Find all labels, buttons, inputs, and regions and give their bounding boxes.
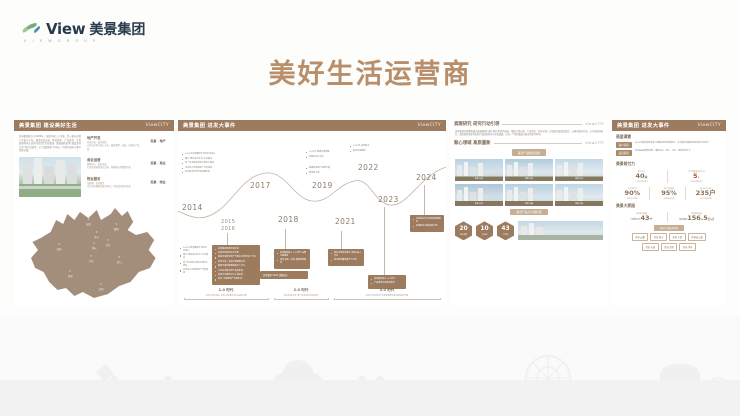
kpi: 在管项目数量 已服务社区43个 xyxy=(616,212,668,222)
kpi: 累计交付 40余 个住宅项目批次 xyxy=(616,170,668,183)
gallery-photo-caption: 美景·熙山 xyxy=(555,177,603,181)
kpi-row-mid: 交付及时率 90% 按期交付保障 客户满意度 95% 年度测评结果 累计交付户数… xyxy=(612,186,726,200)
project-chip[interactable]: 美景·天城 xyxy=(642,243,659,251)
kpi-sub: 2024年度数据 xyxy=(689,197,722,200)
delivery-title: 美景竣付力 xyxy=(612,158,726,169)
list-item: 全域美好生活运营商战略发布 xyxy=(413,218,441,224)
company-photo xyxy=(19,157,81,197)
gallery-photo: 美景·东望 xyxy=(455,159,503,181)
stat-badge: 20 余年深耕 xyxy=(455,221,472,240)
timeline-card: 全域美好生活运营商战略发布 多城联动 持续深耕中原 xyxy=(410,215,444,232)
list-item: 美景龙堂项目正式开盘 xyxy=(215,252,257,255)
kpi-unit: 余 xyxy=(645,175,648,179)
panel-research: 紧跟研究 研究行动引领 ViewCITY 美景集团持续聚焦城市发展脉络与客户居住… xyxy=(450,120,608,306)
province-map: ▾安阳▾濮阳▾新乡▾开封▾洛阳▾郑州▾许昌▾周口▾南阳▾信阳 xyxy=(24,202,164,302)
research-paragraph: 美景集团持续聚焦城市发展脉络与客户居住需求的演进，围绕土地价值、产品营造、社区运… xyxy=(450,127,608,136)
map-city-label: 南阳 xyxy=(68,274,73,278)
business-item: 商业运营 购物中心 · 街区商业 打造区域级商业综合体，构建城市消费新场景 美景… xyxy=(87,157,169,170)
list-item: 2022年 美景商业 xyxy=(350,145,384,148)
kpi: 交付及时率 90% 按期交付保障 xyxy=(616,187,650,200)
map-city-label: 许昌 xyxy=(89,259,94,263)
stat-label: 余年深耕 xyxy=(460,233,468,236)
gallery-photo-caption: 美景·云麓 xyxy=(505,201,553,205)
list-item: 多城联动 持续深耕中原 xyxy=(413,225,441,228)
business-logo: 美景 · 商业 xyxy=(147,157,169,170)
kpi-prefix: 已服务社区 xyxy=(630,219,640,221)
logo-subtitle: V I E W G R O U P xyxy=(24,39,98,43)
panel1-brand: ViewCITY xyxy=(146,123,169,128)
timeline-card: 美景集团进入 2.0 时代 品牌全面焕新 美景·熙山、美景·熙园双盘联动 xyxy=(274,249,310,269)
map-pin-icon: ▾ xyxy=(96,230,98,234)
timeline-year: 2022 xyxy=(358,163,379,172)
kpi-unit: 个 xyxy=(650,217,653,221)
list-item: 美景集团战略升级启动 xyxy=(215,248,257,251)
era-block: 1.0 时代 住宅开发为核心 夯实主业根基 树立品质口碑 xyxy=(184,288,268,297)
list-item: 2019年 集团年度销售 xyxy=(306,151,340,154)
research-section-header: 紧跟研究 研究行动引领 ViewCITY xyxy=(450,120,608,127)
timeline-year: 2019 xyxy=(312,181,333,190)
list-item: 商业运营板块独立 美景MALL开业 xyxy=(331,252,361,258)
list-item: 荣膺河南地产品牌价值 xyxy=(306,167,340,170)
map-pin-icon: ▾ xyxy=(93,241,95,245)
kpi-value: 235户 xyxy=(689,190,722,197)
kpi-unit: 万㎡ xyxy=(708,217,714,221)
project-chip[interactable]: 美景城·云著 xyxy=(688,233,707,241)
timeline-card: 美景集团战略升级启动 美景龙堂项目正式开盘 荣获河南省房地产开发企业综合实力十强… xyxy=(212,245,260,285)
gallery-top-pill: 美景产品精选案例 xyxy=(512,149,546,156)
era-block: 3.0 时代 美好生活运营商 全场景服务体系持续深化升级 xyxy=(334,288,440,297)
timeline-note: 荣膺河南地产品牌价值 榜单前十强 xyxy=(306,167,340,176)
stats-row: 20 余年深耕 10 大城市 43 个项目 美景集团项目实景 xyxy=(450,218,608,240)
gallery-photo: 美景·天城 xyxy=(455,184,503,206)
era-title: 1.0 时代 xyxy=(184,288,268,293)
business-logo: 美景 · 物业 xyxy=(147,176,169,189)
section-title: 紧跟研究 研究行动引领 xyxy=(454,121,499,127)
era-sub: 住宅开发为核心 夯实主业根基 树立品质口碑 xyxy=(184,294,268,297)
business-title: 地产开发 xyxy=(87,135,141,140)
infographic-board: 美景集团 建设美好生活 ViewCITY 美景集团创立于2002年，深耕河南二十… xyxy=(8,113,732,313)
tag-row: 客户满意 2023年度美景物业客户满意度测评结果显示，业主整体满意度持续位居行业… xyxy=(612,142,726,150)
map-city-label: 开封 xyxy=(106,243,111,247)
section-title: 聚心领域 高质量新 xyxy=(454,140,491,146)
kpi: 累计交付户数 235户 2024年度数据 xyxy=(689,187,722,200)
kpi: 交付满意度领先行业 5+ 年连续保持高位 xyxy=(671,170,722,183)
list-item: 板块全面提速 xyxy=(350,150,384,153)
era-title: 2.0 时代 xyxy=(274,288,328,293)
timeline-year: 2021 xyxy=(335,217,356,226)
project-chip[interactable]: 美景·云麓 xyxy=(632,233,649,241)
panel4-title: 美景集团 进发大事件 xyxy=(617,122,670,129)
map-pin-icon: ▾ xyxy=(100,282,102,286)
timeline-card: 美景集团迈入 3.0 时代 产品体系全面升级发布 xyxy=(368,275,406,289)
business-title: 商业运营 xyxy=(87,157,141,162)
list-item: 首个住宅项目美景天城开工建设 xyxy=(180,262,208,268)
panel-delivery: 美景集团 进发大事件 ViewCITY 高层满意 客户满意 2023年度美景物业… xyxy=(612,120,726,306)
list-item: 正式进入河南房地产开发领域 xyxy=(182,167,234,170)
stat-badge: 43 个项目 xyxy=(497,221,514,240)
map-pin-icon: ▾ xyxy=(118,255,120,259)
era-block: 2.0 时代 多元业务并举 地产商业物业协同发展 xyxy=(274,288,328,297)
list-item: 美景生活服务平台上线运营 xyxy=(215,274,257,277)
timeline-year: 2017 xyxy=(250,181,271,190)
timeline-bottom-card: 美景集团 2024 战略发布 xyxy=(260,271,308,279)
kpi: 在管面积规模 管理面积156.5万㎡ xyxy=(671,212,722,222)
list-item: 美景集团进入 2.0 时代 品牌全面焕新 xyxy=(277,252,307,258)
kpi-value: 43 xyxy=(640,214,649,222)
focus-section-header: 聚心领域 高质量新 ViewCITY xyxy=(450,140,608,146)
list-item: 美景集团迈入 3.0 时代 xyxy=(371,278,403,281)
timeline-side-list: 2002年美景集团于郑州正式成立 确立“建设美好生活”企业使命 首个住宅项目美景… xyxy=(180,247,208,277)
map-province-shape xyxy=(24,202,164,302)
panel2-header: 美景集团 进发大事件 ViewCITY xyxy=(178,120,446,131)
business-title: 物业服务 xyxy=(87,176,141,181)
business-desc: 全生命周期物业服务体系，持续提升居住体验 xyxy=(87,185,141,188)
gallery-photo: 美景·熙山 xyxy=(555,159,603,181)
stat-label: 大城市 xyxy=(482,233,488,236)
map-city-label: 郑州 xyxy=(92,246,97,250)
business-desc: 打造区域级商业综合体，构建城市消费新场景 xyxy=(87,166,141,169)
gallery-photo-caption: 美景·东望 xyxy=(455,177,503,181)
panel2-brand: ViewCITY xyxy=(418,123,441,128)
map-pin-icon: ▾ xyxy=(88,217,90,221)
panel1-title: 美景集团 建设美好生活 xyxy=(19,122,77,129)
gallery-photo: 美景·云麓 xyxy=(505,184,553,206)
kpi-sub: 个住宅项目批次 xyxy=(616,180,667,183)
kpi-value: 156.5 xyxy=(687,214,708,222)
footer-bar xyxy=(0,380,740,416)
logo-text-cn: 美景集团 xyxy=(89,23,145,37)
era-sub: 美好生活运营商 全场景服务体系持续深化升级 xyxy=(334,294,440,297)
timeline-note: 2019年 集团年度销售 突破百亿元大关 xyxy=(306,151,340,160)
gallery-photo-caption: 美景·学府 xyxy=(555,201,603,205)
timeline-year: 2014 xyxy=(182,203,203,212)
era-title: 3.0 时代 xyxy=(334,288,440,293)
kpi-row-top: 累计交付 40余 个住宅项目批次 交付满意度领先行业 5+ 年连续保持高位 xyxy=(612,169,726,183)
list-item: 2002年美景集团于郑州正式成立 xyxy=(182,153,234,156)
stat-number: 20 xyxy=(459,226,467,232)
stat-badge: 10 大城市 xyxy=(476,221,493,240)
business-logo: 美景 · 地产 xyxy=(147,135,169,148)
timeline-year: 2024 xyxy=(416,173,437,182)
map-pin-icon: ▾ xyxy=(69,269,71,273)
stat-label: 个项目 xyxy=(503,233,509,236)
kpi-value: 95% xyxy=(653,190,686,197)
kpi-row-bottom: 在管项目数量 已服务社区43个 在管面积规模 管理面积156.5万㎡ xyxy=(612,211,726,222)
list-item: 正式进入河南房地产开发领域 xyxy=(180,269,208,275)
tag-text: 全流程品质管控体系，覆盖设计、施工、交付、服务四大环节 xyxy=(635,150,722,153)
map-city-label: 新乡 xyxy=(94,235,99,239)
company-paragraph: 美景集团创立于2002年，深耕河南二十余载，是一家以房地产开发为主业，涵盖商业运… xyxy=(19,135,81,153)
tag-badge: 品质保障 xyxy=(616,150,632,156)
stat-photo: 美景集团项目实景 xyxy=(518,221,603,240)
panel4-header: 美景集团 进发大事件 ViewCITY xyxy=(612,120,726,131)
list-item: 美景·熙山、美景·熙园双盘联动 xyxy=(277,259,307,265)
gallery-photo: 美景·龙堂 xyxy=(505,159,553,181)
timeline-card: 商业运营板块独立 美景MALL开业 物业服务覆盖超千万平米 xyxy=(328,249,364,266)
timeline-year: 2023 xyxy=(378,195,399,204)
map-city-label: 周口 xyxy=(117,260,122,264)
slide-canvas: View 美景集团 V I E W G R O U P 美好生活运营商 美景集团… xyxy=(0,0,740,416)
map-pin-icon: ▾ xyxy=(116,222,118,226)
project-chips-row2: 美景·天城美景·龙堂美景·学府 xyxy=(612,241,726,251)
timeline-year: 2018 xyxy=(278,215,299,224)
business-item: 地产开发 住宅开发 · 城市更新 以住宅开发为核心主业，覆盖刚需、改善、高端全产… xyxy=(87,135,169,151)
kpi-value: 90% xyxy=(616,190,649,197)
map-city-label: 安阳 xyxy=(86,222,91,226)
timeline-note: 2022年 美景商业 板块全面提速 xyxy=(350,145,384,154)
community-title: 美景大家园 xyxy=(612,200,726,211)
tag-badge: 客户满意 xyxy=(616,142,632,148)
project-chip[interactable]: 美景·熙山 xyxy=(650,233,667,241)
list-item: 产品体系全面升级发布 xyxy=(371,282,403,285)
leaf-icon xyxy=(22,23,42,37)
kpi-sub: 年度测评结果 xyxy=(653,197,686,200)
project-gallery: 美景·东望美景·龙堂美景·熙山美景·天城美景·云麓美景·学府 xyxy=(450,159,608,206)
section-brand: ViewCITY xyxy=(585,122,604,126)
bottom-card-label: 美景集团 2024 战略发布 xyxy=(263,273,305,277)
list-item: 突破百亿元大关 xyxy=(306,156,340,159)
panel4-brand: ViewCITY xyxy=(698,123,721,128)
panel-company-intro: 美景集团 建设美好生活 ViewCITY 美景集团创立于2002年，深耕河南二十… xyxy=(14,120,174,306)
gallery-photo: 美景·学府 xyxy=(555,184,603,206)
list-item: 集团年度销售额突破五十亿元 xyxy=(215,265,257,268)
list-item: 启动城市综合开发战略布局 xyxy=(182,171,234,174)
list-item: 确立“建设美好生活”企业使命 xyxy=(180,254,208,260)
business-item: 物业服务 全周期 · 美好服务 全生命周期物业服务体系，持续提升居住体验 美景 … xyxy=(87,176,169,189)
business-desc: 以住宅开发为核心主业，覆盖刚需、改善、高端全产品线 xyxy=(87,144,141,151)
tag-row: 品质保障 全流程品质管控体系，覆盖设计、施工、交付、服务四大环节 xyxy=(612,150,726,158)
kpi: 客户满意度 95% 年度测评结果 xyxy=(653,187,687,200)
project-chips-row1: 美景·云麓美景·熙山美景·东望美景城·云著 xyxy=(612,231,726,241)
list-item: 榜单前十强 xyxy=(306,172,340,175)
map-pin-icon: ▾ xyxy=(90,254,92,258)
footer-illustration xyxy=(0,316,740,416)
kpi-sub: 年连续保持高位 xyxy=(671,180,722,183)
panel-timeline: 美景集团 进发大事件 ViewCITY 2014 2015 2016 2017 … xyxy=(178,120,446,306)
gallery-photo-caption: 美景·天城 xyxy=(455,201,503,205)
map-city-label: 信阳 xyxy=(99,287,104,291)
map-city-label: 洛阳 xyxy=(57,247,62,251)
list-item: 确立“建设美好生活”企业使命 xyxy=(182,158,234,161)
map-pin-icon: ▾ xyxy=(58,242,60,246)
list-item: 物业服务覆盖超千万平米 xyxy=(331,259,361,262)
project-chip[interactable]: 美景·学府 xyxy=(679,243,696,251)
kpi-value: 40 xyxy=(635,172,644,180)
map-pin-icon: ▾ xyxy=(107,238,109,242)
business-lines: 地产开发 住宅开发 · 城市更新 以住宅开发为核心主业，覆盖刚需、改善、高端全产… xyxy=(87,135,169,197)
list-item: 正式启动商业地产板块布局 xyxy=(215,270,257,273)
tag-text: 2023年度美景物业客户满意度测评结果显示，业主整体满意度持续位居行业前列 xyxy=(635,142,722,145)
list-item: 2002年美景集团于郑州正式成立 xyxy=(180,247,208,253)
page-title: 美好生活运营商 xyxy=(0,52,740,91)
era-sub: 多元业务并举 地产商业物业协同发展 xyxy=(274,294,328,297)
kpi-unit: + xyxy=(698,175,701,179)
list-item: 获评“中国房地产百强企业” xyxy=(215,278,257,281)
logo-text-en: View xyxy=(46,22,85,37)
brand-logo: View 美景集团 xyxy=(22,22,145,37)
kpi-sub: 按期交付保障 xyxy=(616,197,649,200)
stat-number: 10 xyxy=(480,226,488,232)
gallery-photo-caption: 美景·龙堂 xyxy=(505,177,553,181)
map-city-label: 濮阳 xyxy=(114,227,119,231)
timeline-intro-list: 2002年美景集团于郑州正式成立 确立“建设美好生活”企业使命 首个住宅项目美景… xyxy=(182,153,234,176)
stat-number: 43 xyxy=(501,226,509,232)
section-brand: ViewCITY xyxy=(585,141,604,145)
timeline-year: 2016 xyxy=(221,226,235,232)
project-chip[interactable]: 美景·龙堂 xyxy=(661,243,678,251)
panel1-header: 美景集团 建设美好生活 ViewCITY xyxy=(14,120,174,131)
timeline-year: 2015 xyxy=(221,219,235,225)
panel2-title: 美景集团 进发大事件 xyxy=(183,122,236,129)
satisfaction-title: 高层满意 xyxy=(612,131,726,142)
project-chip[interactable]: 美景·东望 xyxy=(669,233,686,241)
list-item: 美景东望、美景天城相继交付 xyxy=(215,261,257,264)
list-item: 首个住宅项目美景天城开工建设 xyxy=(182,162,234,165)
list-item: 荣获河南省房地产开发企业综合实力十强 xyxy=(215,256,257,259)
gallery-bottom-pill: 美景产品力全面升级 xyxy=(510,209,547,216)
